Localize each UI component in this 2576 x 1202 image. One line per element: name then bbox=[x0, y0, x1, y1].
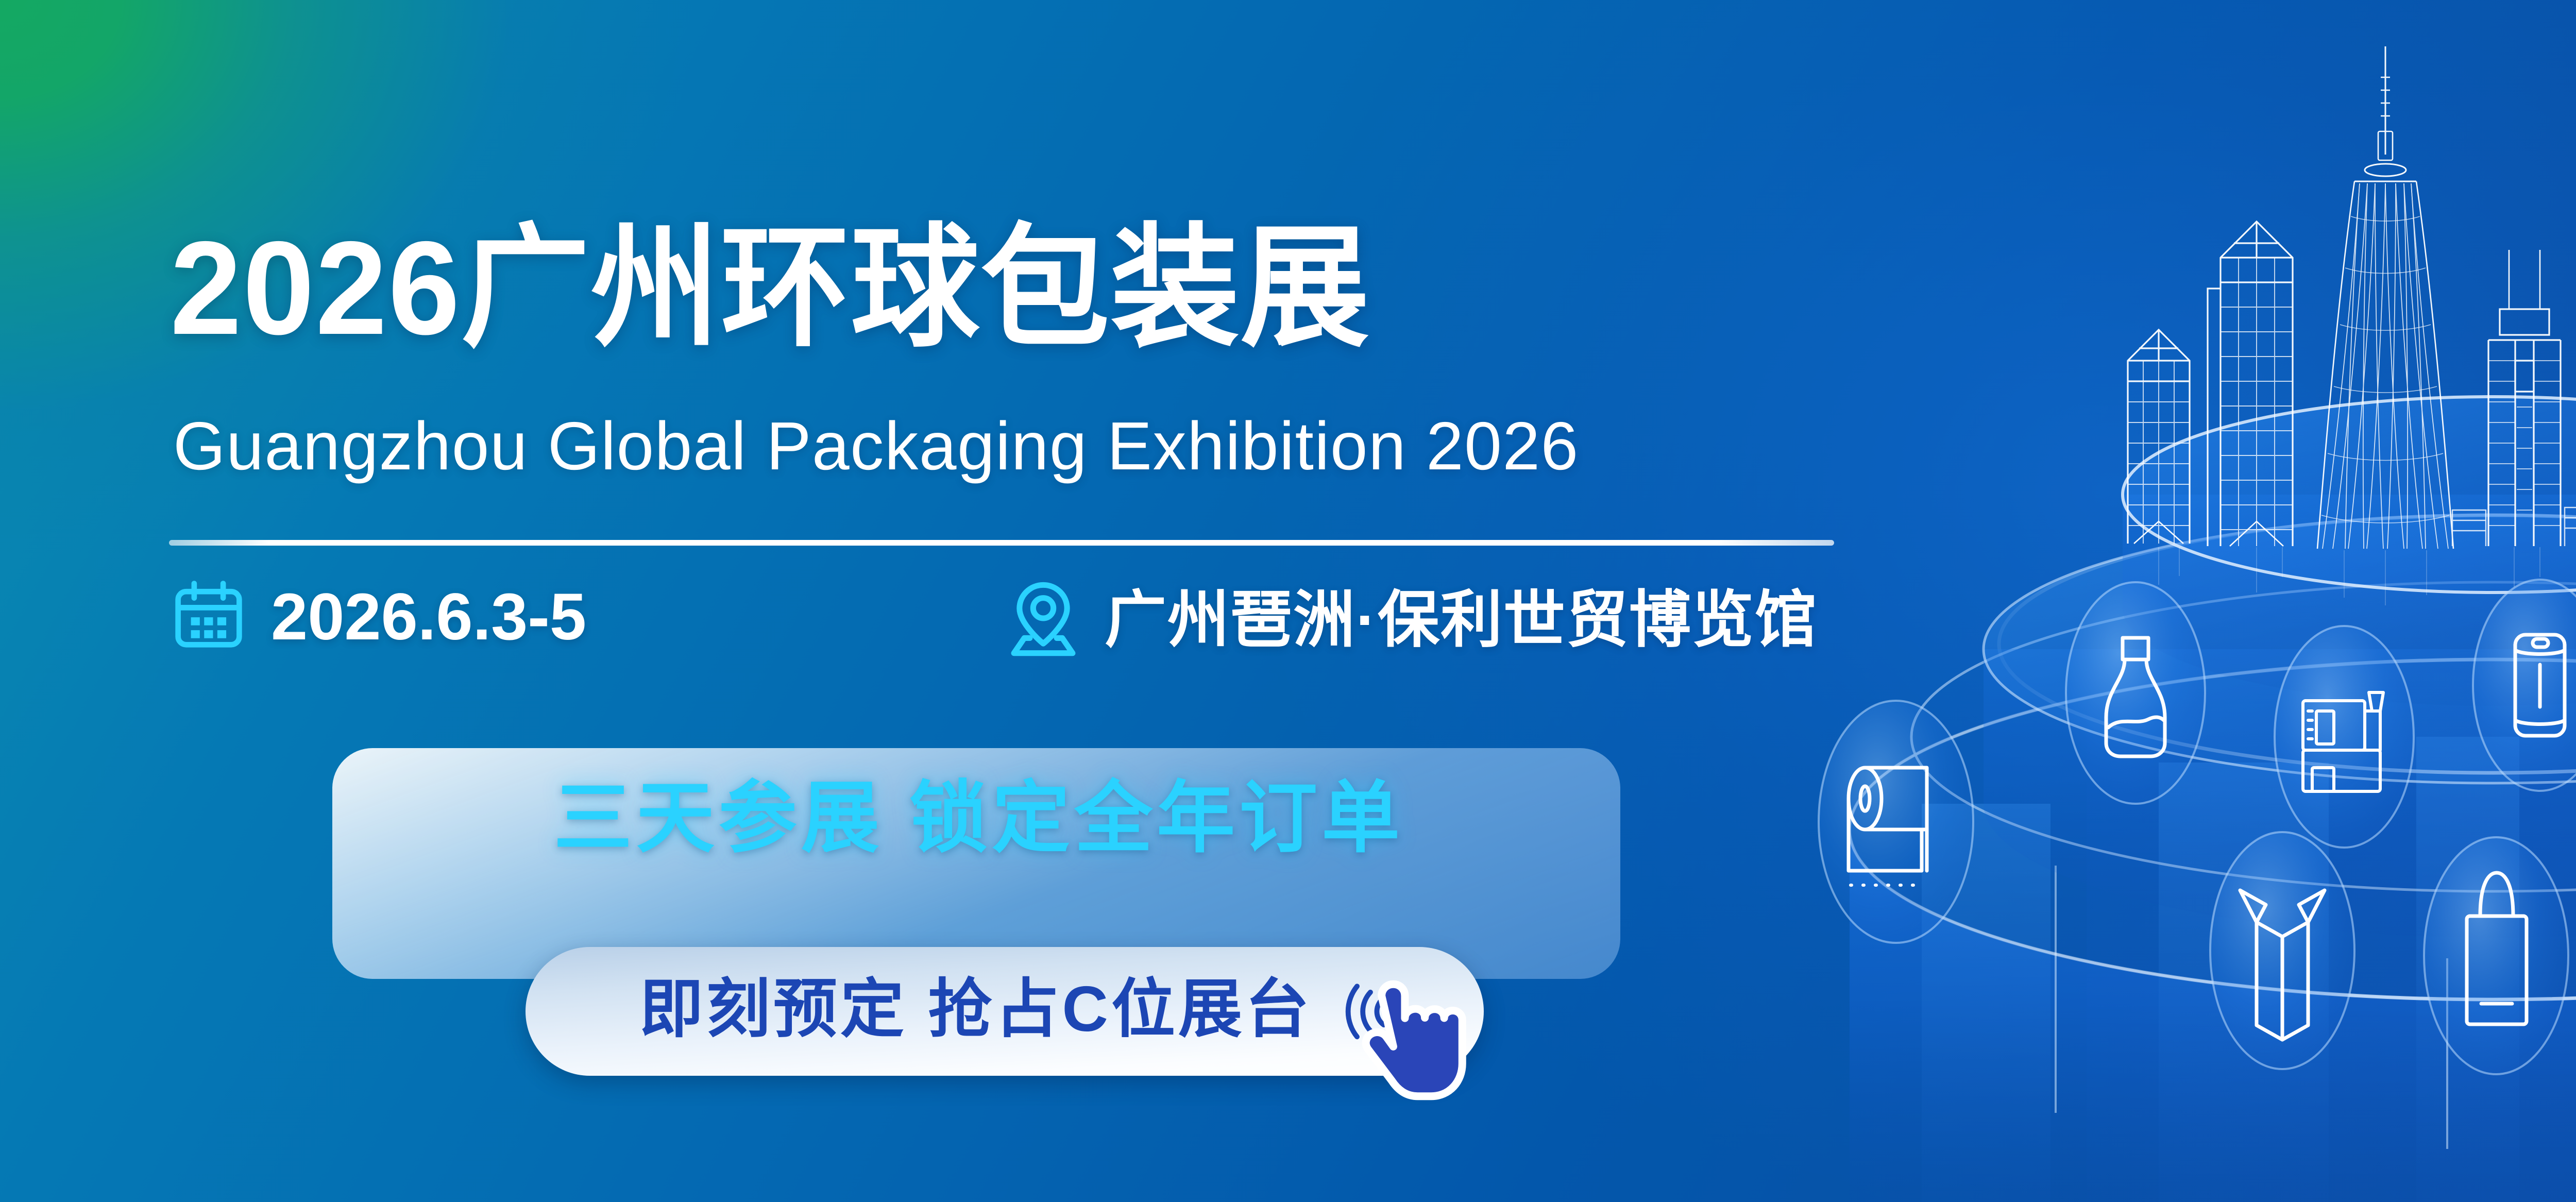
title-divider bbox=[169, 540, 1834, 546]
event-meta-row: 2026.6.3-5 广州琶洲·保利世贸博览馆 bbox=[170, 577, 1850, 670]
event-venue: 广州琶洲·保利世贸博览馆 bbox=[1005, 577, 1818, 662]
event-date-label: 2026.6.3-5 bbox=[271, 584, 586, 650]
page-subtitle: Guangzhou Global Packaging Exhibition 20… bbox=[173, 412, 1579, 480]
printing-machine-icon-bubble bbox=[2275, 626, 2414, 848]
slogan-text: 三天参展 锁定全年订单 bbox=[500, 779, 1458, 857]
event-venue-label: 广州琶洲·保利世贸博览馆 bbox=[1105, 589, 1818, 651]
promo-banner: 2026广州环球包装展 Guangzhou Global Packaging E… bbox=[0, 0, 2576, 1202]
event-date: 2026.6.3-5 bbox=[170, 577, 586, 657]
banner-text-column: 2026广州环球包装展 Guangzhou Global Packaging E… bbox=[0, 0, 1906, 1202]
page-title: 2026广州环球包装展 bbox=[170, 222, 1370, 354]
open-carton-box-icon-bubble bbox=[2210, 832, 2354, 1069]
calendar-icon bbox=[170, 577, 247, 657]
bottle-icon-bubble bbox=[2066, 582, 2205, 804]
cta-button-label: 即刻预定 抢占C位展台 bbox=[639, 977, 1312, 1041]
hand-click-icon bbox=[1334, 951, 1484, 1105]
shopping-bag-icon-bubble bbox=[2424, 837, 2568, 1074]
location-pin-icon bbox=[1005, 577, 1082, 662]
